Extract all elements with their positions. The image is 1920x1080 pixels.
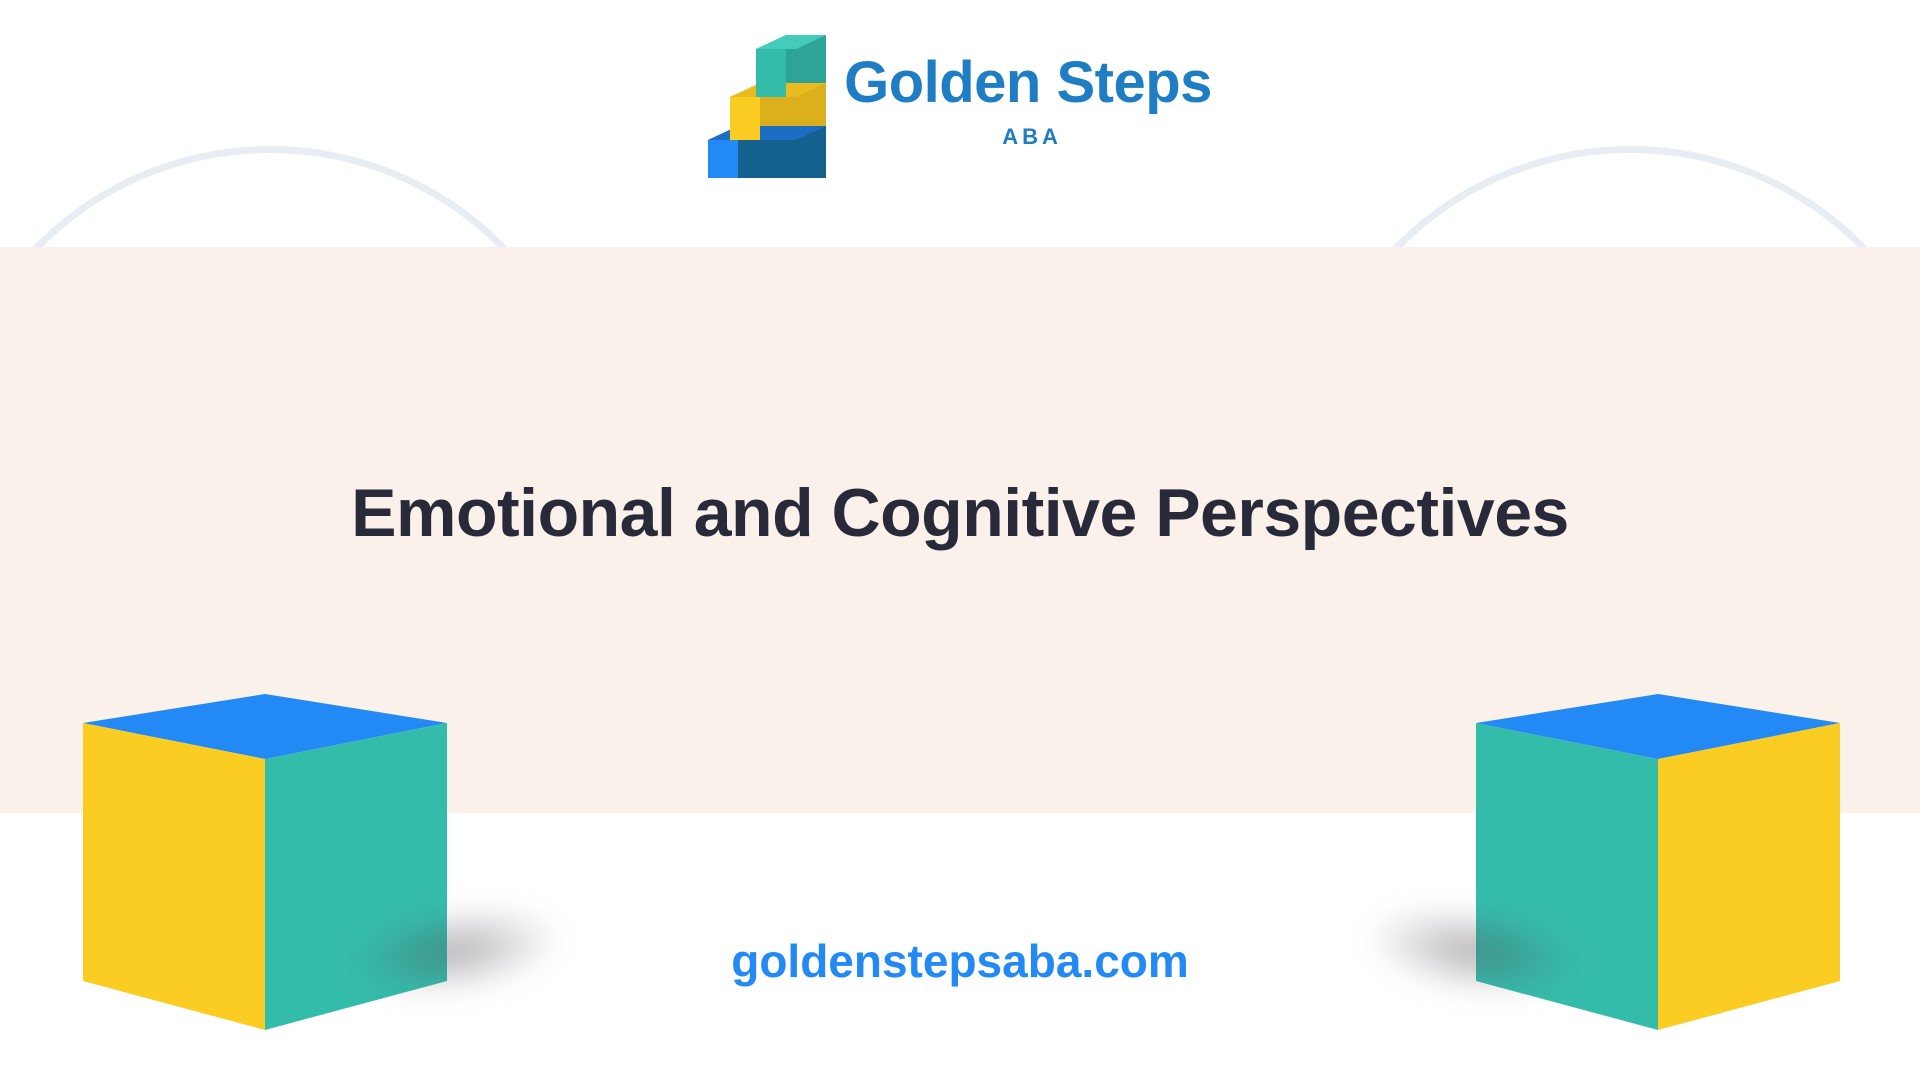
brand-logo[interactable]: Golden Steps ABA [0, 28, 1920, 186]
cube-right-icon [1468, 686, 1848, 1046]
cube-left-icon [75, 686, 455, 1046]
golden-steps-stair-cubes-icon [708, 30, 826, 178]
page-title: Emotional and Cognitive Perspectives [0, 474, 1920, 552]
logo-text-block: Golden Steps ABA [844, 54, 1212, 148]
logo-wordmark: Golden Steps [844, 54, 1212, 112]
decorative-cube-right [1468, 686, 1848, 1046]
logo-subtitle: ABA [1002, 126, 1062, 148]
decorative-cube-left [75, 686, 455, 1046]
site-url[interactable]: goldenstepsaba.com [0, 938, 1920, 984]
slide-canvas: Golden Steps ABA Emotional and Cognitive… [0, 0, 1920, 1080]
